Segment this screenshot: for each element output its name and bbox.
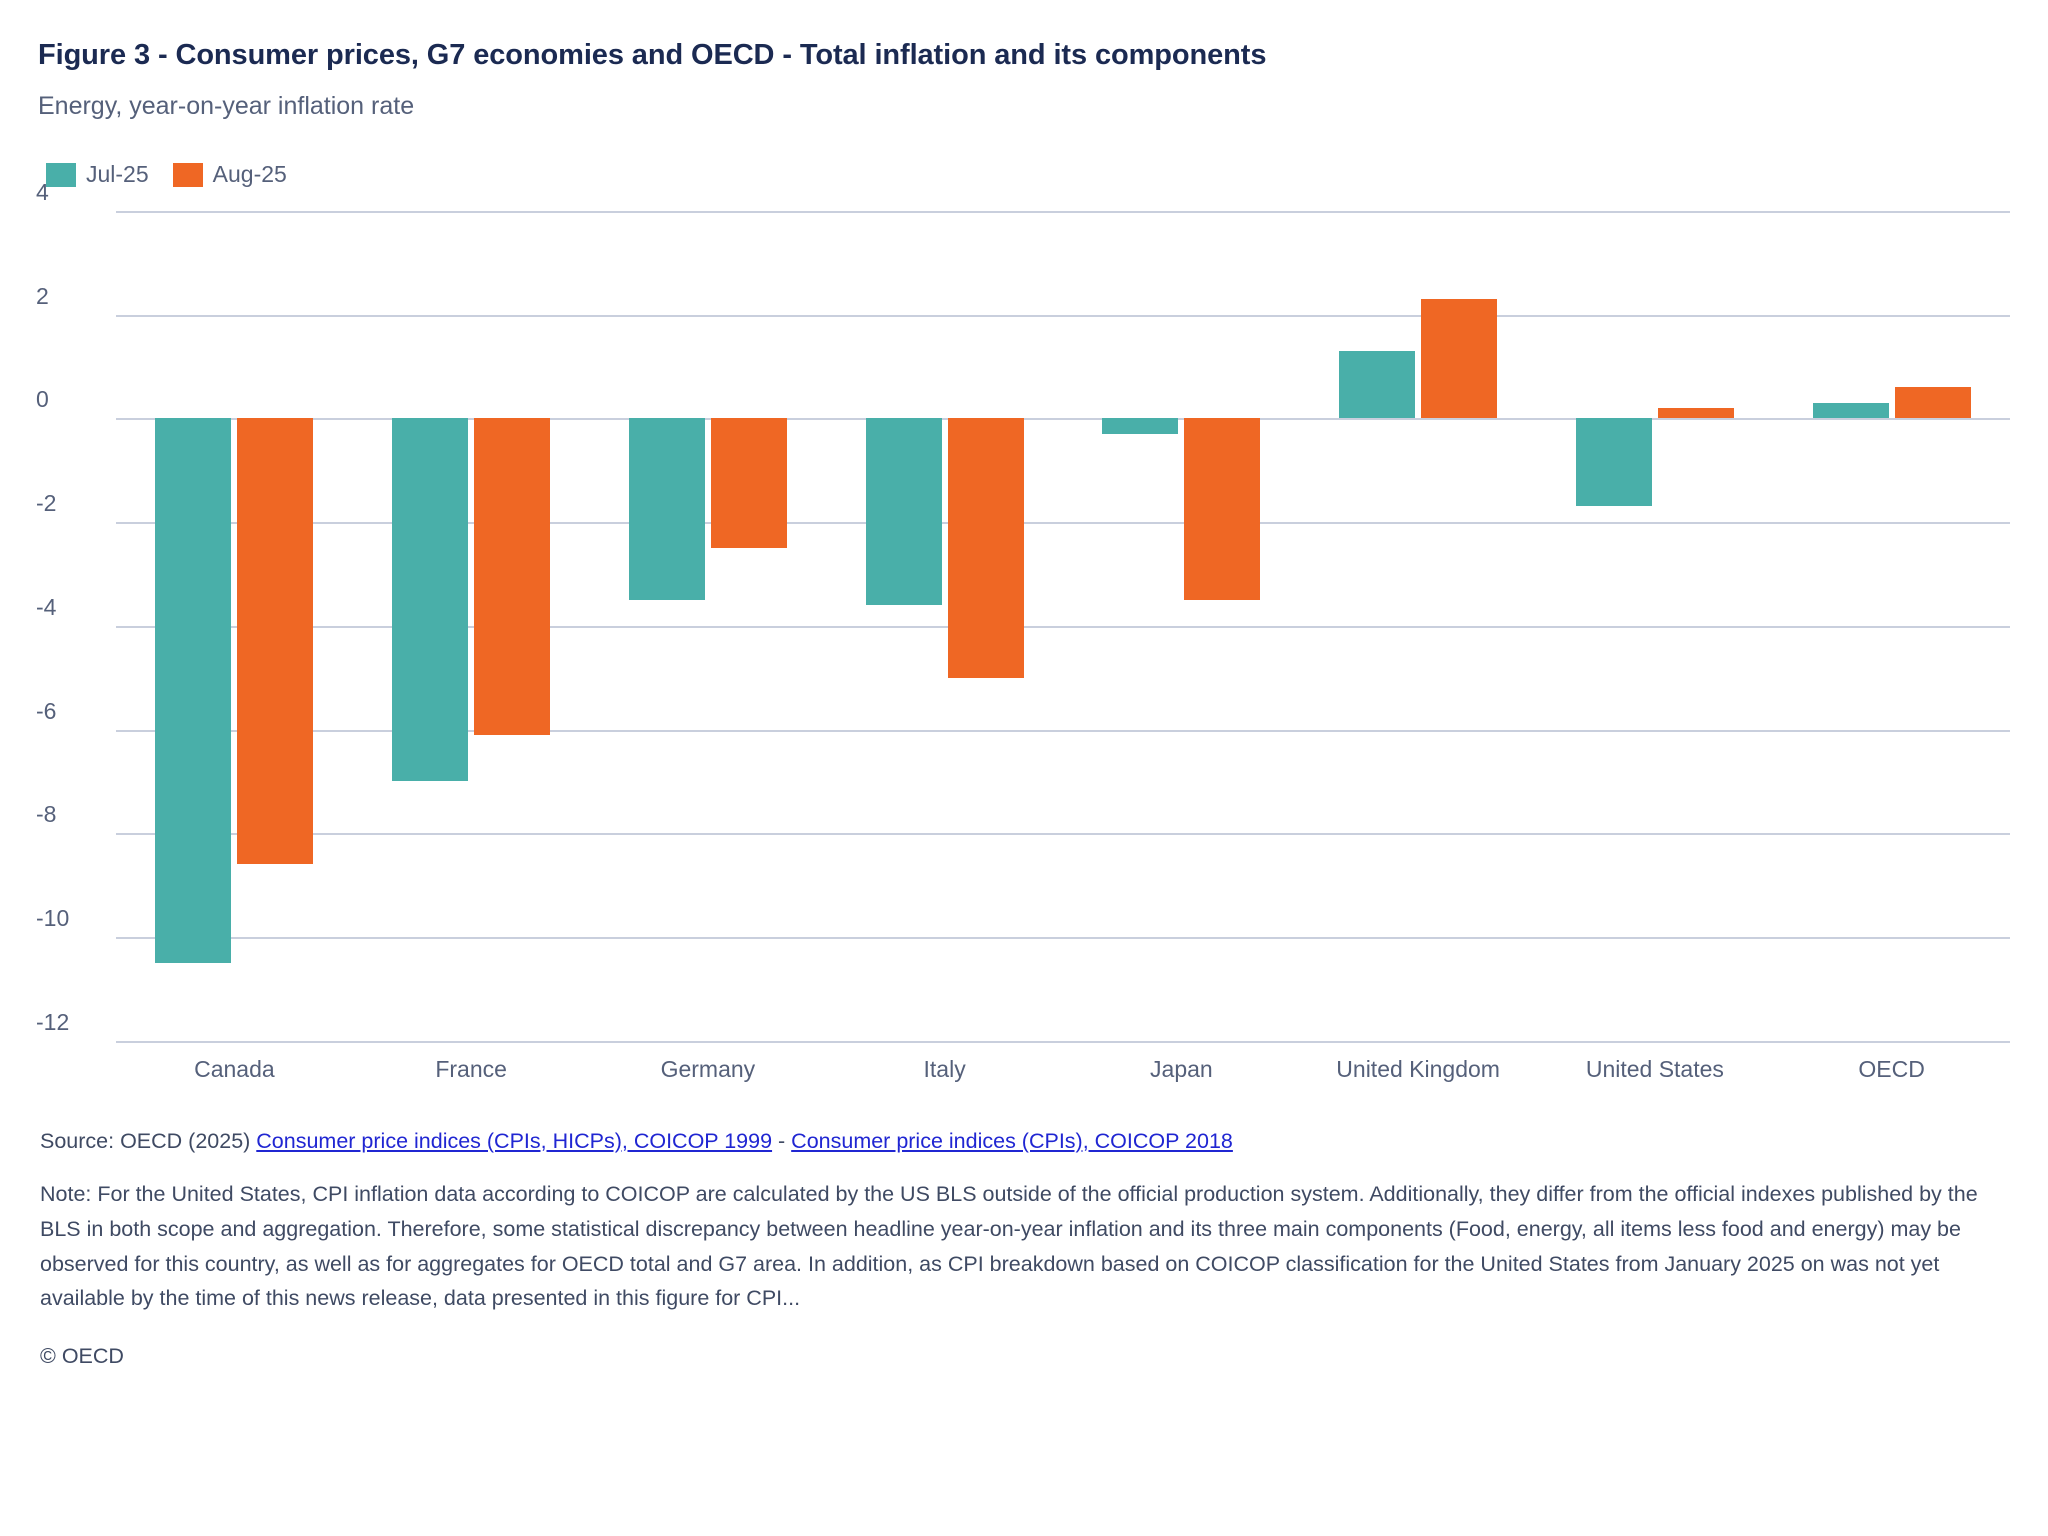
page-subtitle: Energy, year-on-year inflation rate <box>38 90 2010 123</box>
bar-united-states-aug-25[interactable] <box>1658 408 1734 418</box>
source-link-coicop-1999[interactable]: Consumer price indices (CPIs, HICPs), CO… <box>256 1129 772 1153</box>
bar-united-kingdom-aug-25[interactable] <box>1421 299 1497 418</box>
y-axis-tick-label: -6 <box>36 698 106 730</box>
legend-label-aug25: Aug-25 <box>213 161 287 188</box>
bar-japan-aug-25[interactable] <box>1184 418 1260 600</box>
source-separator: - <box>772 1129 791 1153</box>
bar-oecd-aug-25[interactable] <box>1895 387 1971 418</box>
source-prefix: Source: OECD (2025) <box>40 1129 256 1153</box>
chart-bars-layer <box>116 211 2010 1041</box>
y-axis-tick-label: 2 <box>36 283 106 315</box>
x-axis-tick-label: Japan <box>1063 1056 1300 1083</box>
bar-germany-jul-25[interactable] <box>629 418 705 600</box>
legend-swatch-jul25 <box>46 163 76 187</box>
bar-canada-jul-25[interactable] <box>155 418 231 963</box>
chart-x-axis: CanadaFranceGermanyItalyJapanUnited King… <box>116 1056 2010 1083</box>
legend-label-jul25: Jul-25 <box>86 161 149 188</box>
bar-japan-jul-25[interactable] <box>1102 418 1178 434</box>
y-axis-tick-label: -8 <box>36 801 106 833</box>
bar-group <box>1537 211 1774 1041</box>
bar-group <box>353 211 590 1041</box>
source-line: Source: OECD (2025) Consumer price indic… <box>40 1126 2010 1157</box>
bar-group <box>1773 211 2010 1041</box>
bar-united-kingdom-jul-25[interactable] <box>1339 351 1415 418</box>
bar-chart: 420-2-4-6-8-10-12 CanadaFranceGermanyIta… <box>38 211 2010 1116</box>
x-axis-tick-label: Germany <box>590 1056 827 1083</box>
source-link-coicop-2018[interactable]: Consumer price indices (CPIs), COICOP 20… <box>791 1129 1233 1153</box>
copyright-text: © OECD <box>40 1344 2010 1369</box>
legend-swatch-aug25 <box>173 163 203 187</box>
bar-group <box>590 211 827 1041</box>
bar-italy-jul-25[interactable] <box>866 418 942 605</box>
figure-page: Figure 3 - Consumer prices, G7 economies… <box>0 0 2048 1536</box>
bar-france-jul-25[interactable] <box>392 418 468 781</box>
gridline <box>116 1041 2010 1043</box>
figure-footer: Source: OECD (2025) Consumer price indic… <box>38 1126 2010 1369</box>
y-axis-tick-label: -10 <box>36 905 106 937</box>
chart-legend: Jul-25 Aug-25 <box>46 161 2010 189</box>
y-axis-tick-label: -2 <box>36 490 106 522</box>
x-axis-tick-label: France <box>353 1056 590 1083</box>
y-axis-tick-label: 0 <box>36 386 106 418</box>
bar-group <box>1300 211 1537 1041</box>
bar-oecd-jul-25[interactable] <box>1813 403 1889 419</box>
bar-group <box>116 211 353 1041</box>
bar-group <box>1063 211 1300 1041</box>
x-axis-tick-label: United Kingdom <box>1300 1056 1537 1083</box>
x-axis-tick-label: United States <box>1537 1056 1774 1083</box>
legend-item-aug25[interactable]: Aug-25 <box>173 161 287 188</box>
bar-united-states-jul-25[interactable] <box>1576 418 1652 506</box>
bar-france-aug-25[interactable] <box>474 418 550 734</box>
y-axis-tick-label: -4 <box>36 594 106 626</box>
x-axis-tick-label: OECD <box>1773 1056 2010 1083</box>
bar-group <box>826 211 1063 1041</box>
chart-plot-area: 420-2-4-6-8-10-12 <box>116 211 2010 1041</box>
bar-canada-aug-25[interactable] <box>237 418 313 864</box>
y-axis-tick-label: -12 <box>36 1009 106 1041</box>
x-axis-tick-label: Canada <box>116 1056 353 1083</box>
bar-germany-aug-25[interactable] <box>711 418 787 548</box>
bar-italy-aug-25[interactable] <box>948 418 1024 677</box>
legend-item-jul25[interactable]: Jul-25 <box>46 161 149 188</box>
note-text: Note: For the United States, CPI inflati… <box>40 1177 2010 1316</box>
x-axis-tick-label: Italy <box>826 1056 1063 1083</box>
page-title: Figure 3 - Consumer prices, G7 economies… <box>38 37 2010 73</box>
